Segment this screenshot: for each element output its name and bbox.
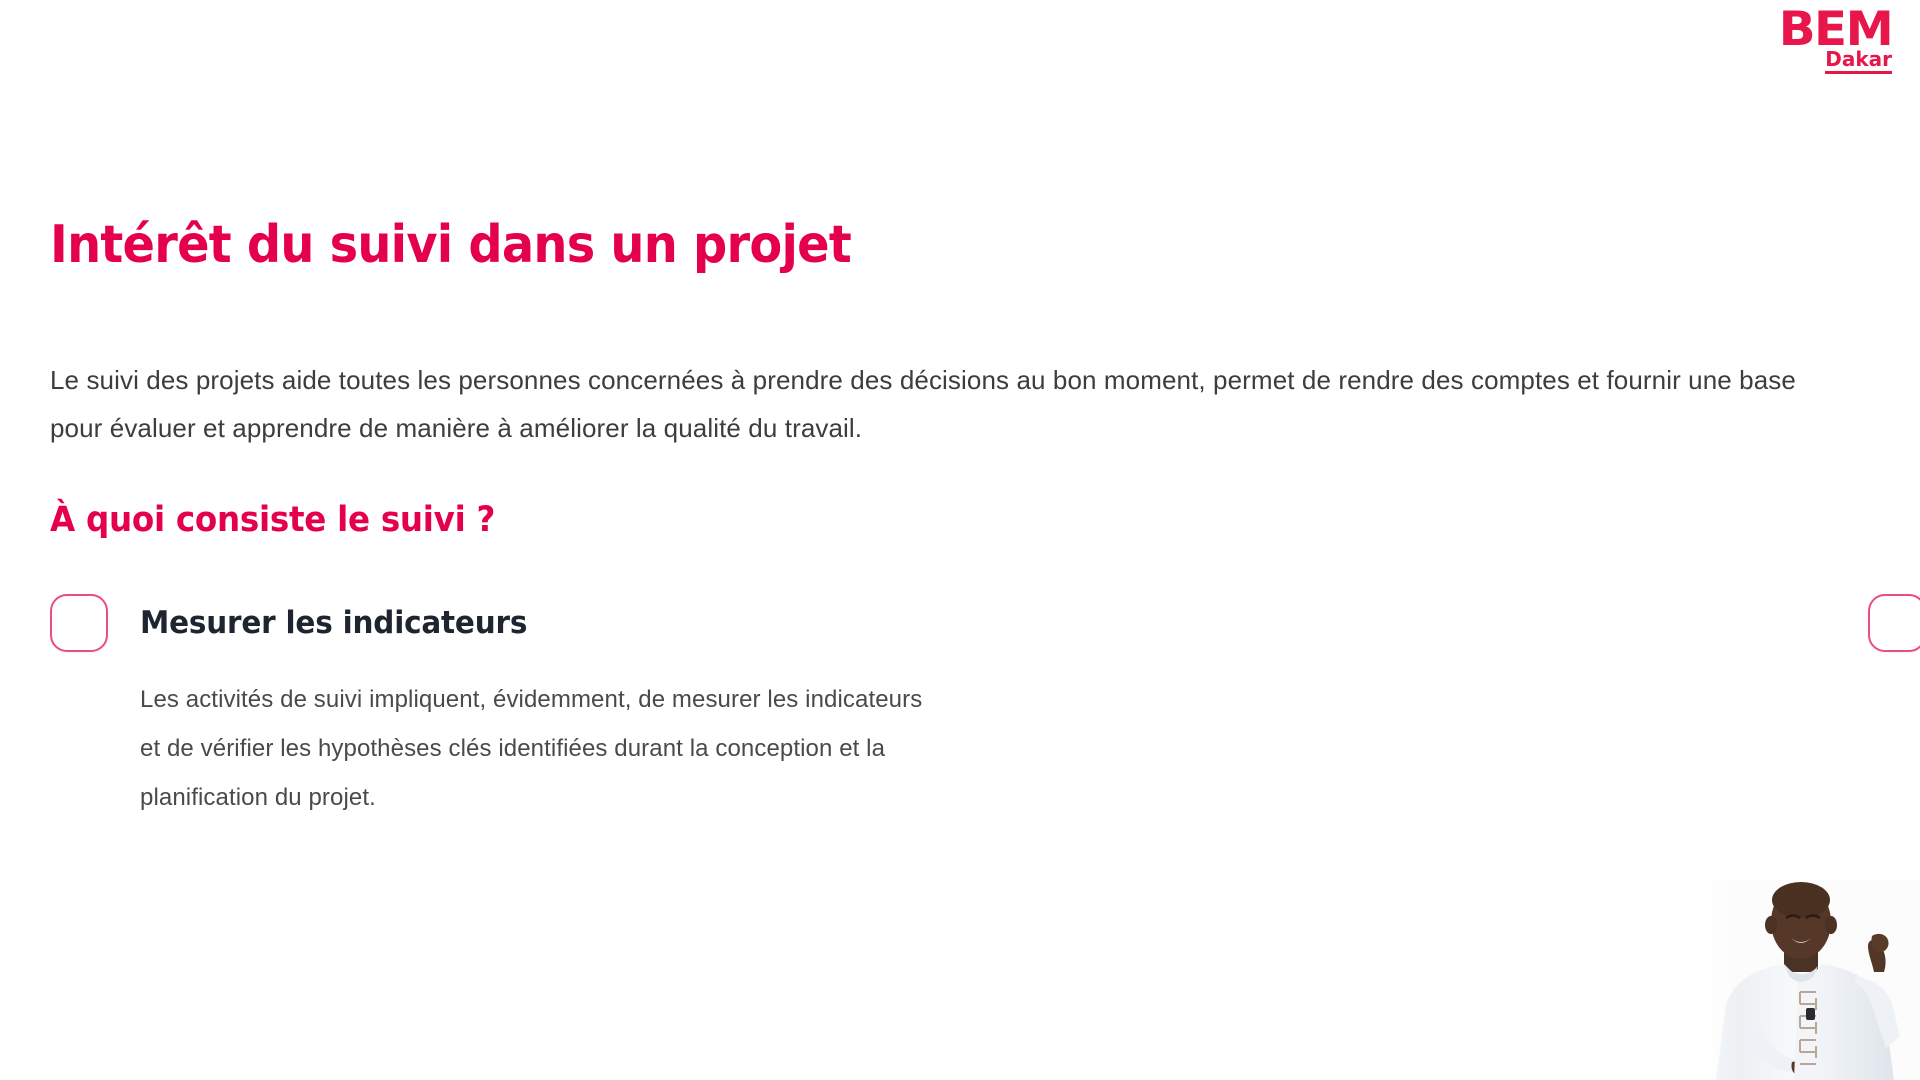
feature-title: Mesurer les indicateurs <box>140 605 527 641</box>
feature-header: Mesurer les indicateurs <box>50 592 940 654</box>
rounded-square-outline-icon <box>1868 594 1920 652</box>
intro-paragraph: Le suivi des projets aide toutes les per… <box>50 356 1840 452</box>
section-question-heading: À quoi consiste le suivi ? <box>50 501 495 540</box>
slide-canvas: BEM Dakar Intérêt du suivi dans un proje… <box>0 0 1920 1080</box>
logo-wordmark: BEM <box>1778 6 1892 53</box>
bem-dakar-logo: BEM Dakar <box>1782 6 1892 74</box>
rounded-square-outline-icon <box>50 594 108 652</box>
feature-card-prise-de-decision: Prise de décision Le suivi permet d'obte… <box>940 592 1920 822</box>
feature-body: Les activités de suivi impliquent, évide… <box>140 675 940 822</box>
feature-card-mesurer-les-indicateurs: Mesurer les indicateurs Les activités de… <box>50 592 940 822</box>
feature-columns: Mesurer les indicateurs Les activités de… <box>50 592 1880 822</box>
presenter-video-overlay[interactable] <box>1688 880 1920 1080</box>
page-title: Intérêt du suivi dans un projet <box>50 218 851 273</box>
presenter-figure-icon <box>1688 880 1920 1080</box>
presenter-video-frame <box>1688 880 1920 1080</box>
feature-header: Prise de décision <box>1868 592 1920 654</box>
